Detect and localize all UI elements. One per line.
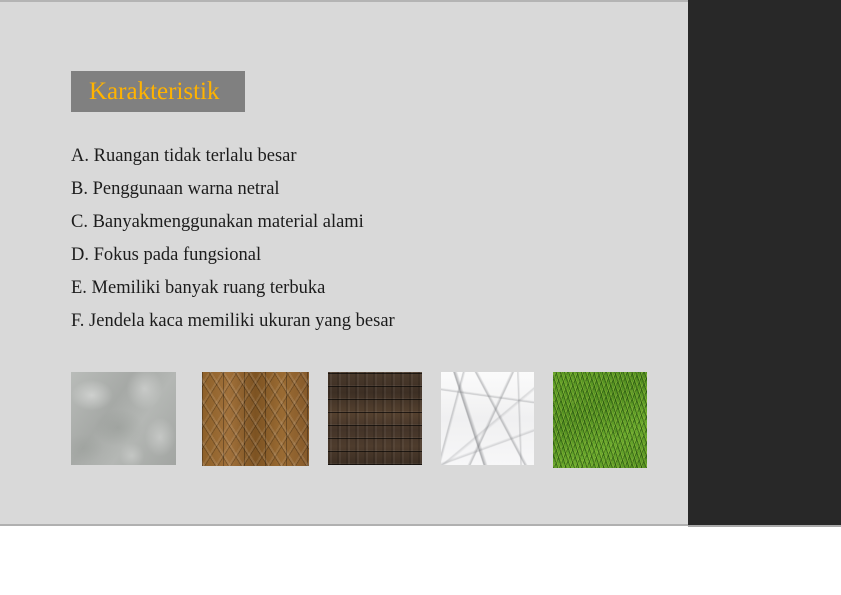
material-swatch-strip [71,372,661,468]
panel-bottom-edge [688,525,841,527]
page-title: Karakteristik [89,79,220,104]
marble-swatch [441,372,534,465]
list-item: E. Memiliki banyak ruang terbuka [71,272,631,305]
slide-canvas: Karakteristik A. Ruangan tidak terlalu b… [0,0,841,595]
list-item: F. Jendela kaca memiliki ukuran yang bes… [71,305,631,338]
list-item: B. Penggunaan warna netral [71,173,631,206]
list-item: C. Banyakmenggunakan material alami [71,206,631,239]
plank-swatch [328,372,422,465]
list-item: D. Fokus pada fungsional [71,239,631,272]
right-dark-panel [688,0,841,526]
list-item: A. Ruangan tidak terlalu besar [71,140,631,173]
concrete-swatch [71,372,176,465]
slide-bottom-edge [0,524,688,526]
characteristics-list: A. Ruangan tidak terlalu besar B. Penggu… [71,140,631,338]
parquet-swatch [202,372,309,466]
title-banner: Karakteristik [71,71,245,112]
grass-swatch [553,372,647,468]
presentation-slide: Karakteristik A. Ruangan tidak terlalu b… [0,0,688,525]
